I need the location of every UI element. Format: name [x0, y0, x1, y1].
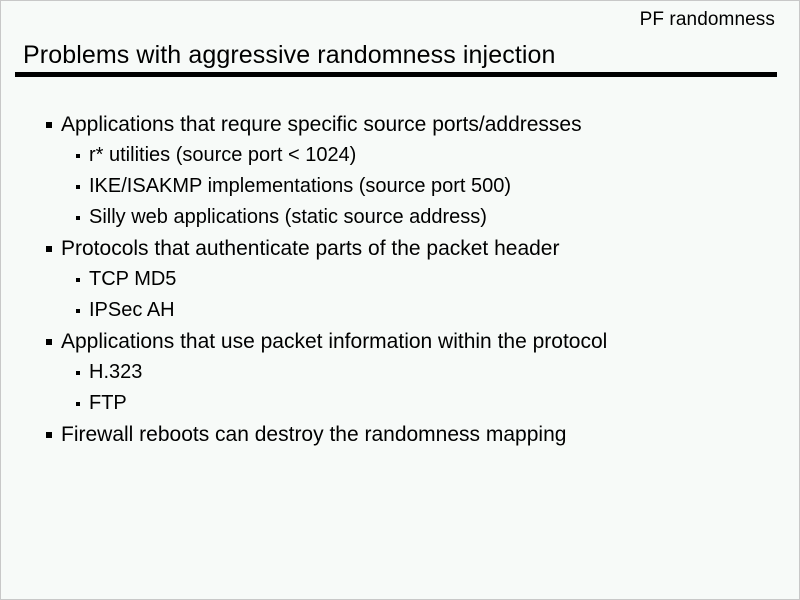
- bullet-item-label: Applications that use packet information…: [61, 326, 607, 357]
- square-bullet-icon: [46, 246, 52, 252]
- square-bullet-icon: [76, 402, 80, 406]
- bullet-item-label: Protocols that authenticate parts of the…: [61, 233, 559, 264]
- square-bullet-icon: [76, 371, 80, 375]
- bullet-list: Applications that requre specific source…: [1, 109, 799, 450]
- square-bullet-icon: [76, 154, 80, 158]
- square-bullet-icon: [76, 216, 80, 220]
- slide: PF randomness Problems with aggressive r…: [0, 0, 800, 600]
- bullet-item: H.323: [1, 357, 799, 388]
- bullet-item-label: Silly web applications (static source ad…: [89, 202, 487, 233]
- square-bullet-icon: [46, 122, 52, 128]
- bullet-item: Applications that requre specific source…: [1, 109, 799, 140]
- bullet-item: Firewall reboots can destroy the randomn…: [1, 419, 799, 450]
- bullet-item: IKE/ISAKMP implementations (source port …: [1, 171, 799, 202]
- bullet-item: FTP: [1, 388, 799, 419]
- bullet-item: Applications that use packet information…: [1, 326, 799, 357]
- bullet-item: TCP MD5: [1, 264, 799, 295]
- bullet-item-label: H.323: [89, 357, 142, 388]
- bullet-item-label: FTP: [89, 388, 127, 419]
- bullet-item: r* utilities (source port < 1024): [1, 140, 799, 171]
- slide-title: Problems with aggressive randomness inje…: [23, 40, 556, 70]
- square-bullet-icon: [76, 185, 80, 189]
- bullet-item-label: r* utilities (source port < 1024): [89, 140, 356, 171]
- bullet-item-label: Applications that requre specific source…: [61, 109, 582, 140]
- square-bullet-icon: [76, 309, 80, 313]
- bullet-item: Protocols that authenticate parts of the…: [1, 233, 799, 264]
- square-bullet-icon: [46, 432, 52, 438]
- square-bullet-icon: [46, 339, 52, 345]
- bullet-item-label: TCP MD5: [89, 264, 176, 295]
- bullet-item-label: Firewall reboots can destroy the randomn…: [61, 419, 566, 450]
- title-divider-rule: [15, 72, 777, 77]
- slide-header-label: PF randomness: [640, 9, 775, 31]
- bullet-item: Silly web applications (static source ad…: [1, 202, 799, 233]
- bullet-item-label: IPSec AH: [89, 295, 175, 326]
- bullet-item-label: IKE/ISAKMP implementations (source port …: [89, 171, 511, 202]
- bullet-item: IPSec AH: [1, 295, 799, 326]
- square-bullet-icon: [76, 278, 80, 282]
